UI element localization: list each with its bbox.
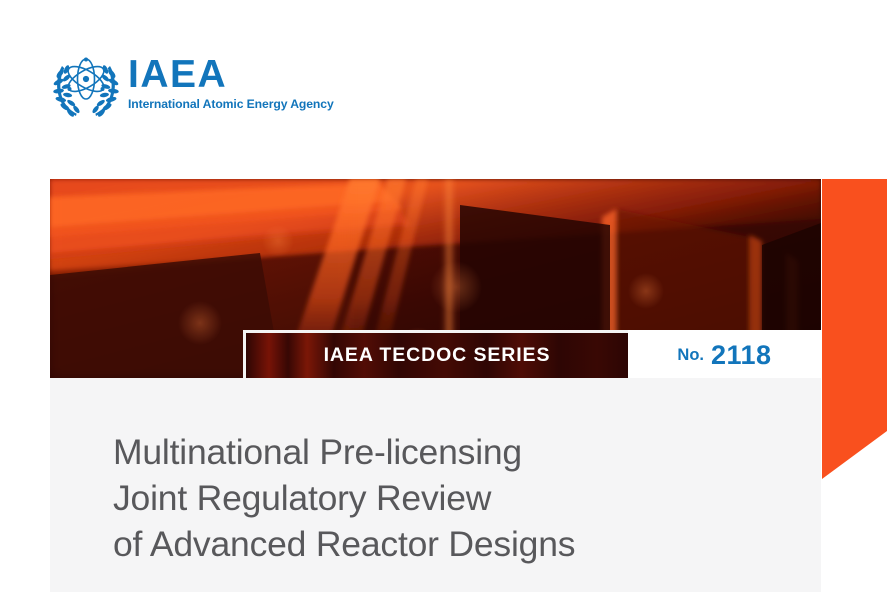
series-number-value: 2118 (711, 340, 772, 371)
publication-cover: IAEA TECDOC SERIES No. 2118 Multinationa… (50, 179, 821, 592)
tecdoc-series-band: IAEA TECDOC SERIES No. 2118 (243, 330, 821, 378)
document-page: IAEA International Atomic Energy Agency (0, 0, 887, 592)
series-label-box: IAEA TECDOC SERIES (243, 330, 628, 378)
series-label-text: IAEA TECDOC SERIES (324, 344, 551, 367)
series-number-box: No. 2118 (628, 330, 821, 378)
title-line-2: Joint Regulatory Review (113, 475, 803, 521)
iaea-atom-laurel-emblem (48, 48, 124, 122)
iaea-full-name: International Atomic Energy Agency (128, 97, 378, 112)
title-line-3: of Advanced Reactor Designs (113, 521, 803, 567)
iaea-logo: IAEA International Atomic Energy Agency (48, 48, 388, 126)
series-number-prefix: No. (677, 346, 704, 365)
iaea-wordmark: IAEA International Atomic Energy Agency (128, 54, 378, 112)
iaea-acronym: IAEA (128, 54, 378, 96)
title-line-1: Multinational Pre-licensing (113, 429, 803, 475)
orange-ribbon-accent (822, 179, 887, 479)
publication-title: Multinational Pre-licensing Joint Regula… (113, 429, 803, 567)
